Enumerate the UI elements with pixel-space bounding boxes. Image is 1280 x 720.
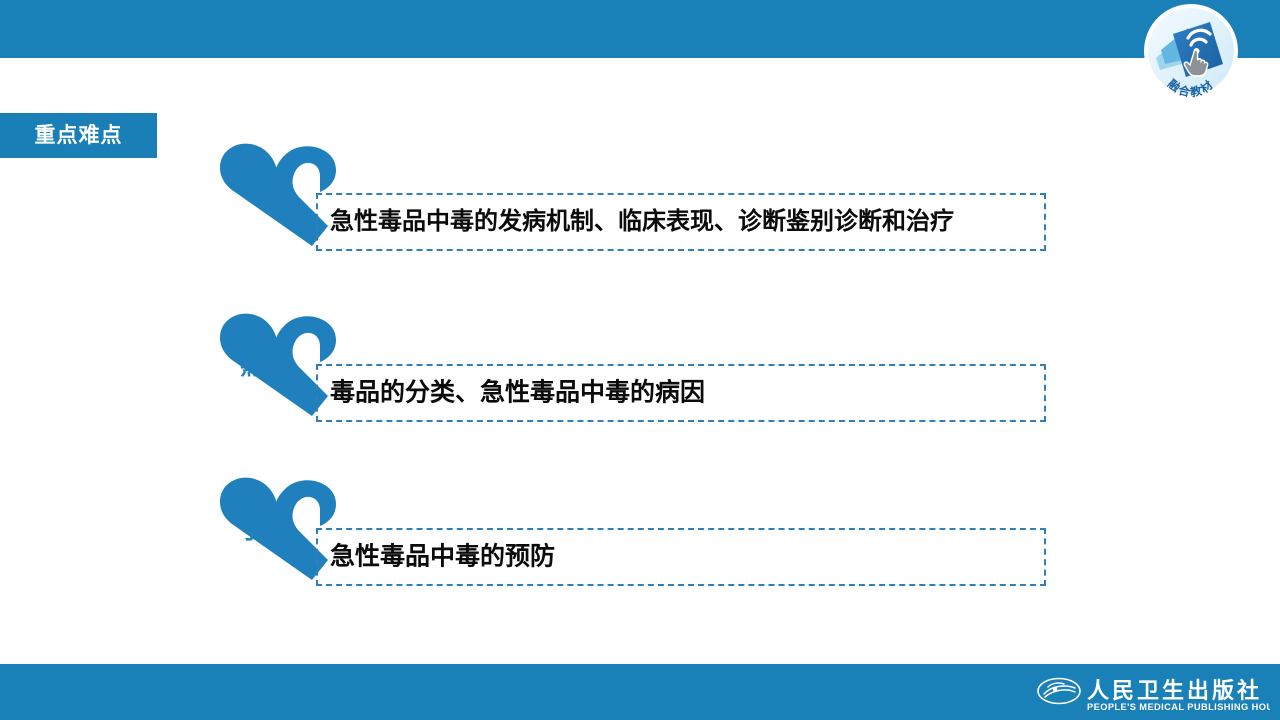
objective-text-box: 急性毒品中毒的预防 [316, 528, 1046, 586]
slide-canvas: 重点难点 掌握 急性毒品中毒的发病机制、临床表现、诊断鉴别诊断和治疗 熟悉 毒品… [0, 0, 1280, 720]
publisher-name-en: PEOPLE'S MEDICAL PUBLISHING HOUSE [1087, 702, 1270, 712]
publisher-name-cn: 人民卫生出版社 [1087, 678, 1262, 703]
objective-level-label: 了解 [240, 519, 288, 542]
objective-text: 急性毒品中毒的发病机制、临床表现、诊断鉴别诊断和治疗 [330, 210, 954, 234]
top-bar [0, 0, 1280, 58]
objective-row: 了解 急性毒品中毒的预防 [200, 462, 1060, 602]
objective-text-box: 毒品的分类、急性毒品中毒的病因 [316, 364, 1046, 422]
objective-text: 毒品的分类、急性毒品中毒的病因 [330, 381, 705, 406]
objective-level-label: 熟悉 [240, 355, 288, 378]
objective-row: 熟悉 毒品的分类、急性毒品中毒的病因 [200, 298, 1060, 438]
wifi-book-hand-icon: 融合教材 [1144, 4, 1238, 98]
objective-row: 掌握 急性毒品中毒的发病机制、临床表现、诊断鉴别诊断和治疗 [200, 128, 1060, 268]
page-title-badge: 重点难点 [0, 113, 157, 158]
objective-text-box: 急性毒品中毒的发病机制、临床表现、诊断鉴别诊断和治疗 [316, 193, 1046, 251]
pmph-logo-icon: 人民卫生出版社 PEOPLE'S MEDICAL PUBLISHING HOUS… [1035, 676, 1270, 716]
page-title: 重点难点 [35, 125, 123, 146]
objective-level-label: 掌握 [242, 174, 290, 197]
objective-text: 急性毒品中毒的预防 [330, 545, 555, 570]
